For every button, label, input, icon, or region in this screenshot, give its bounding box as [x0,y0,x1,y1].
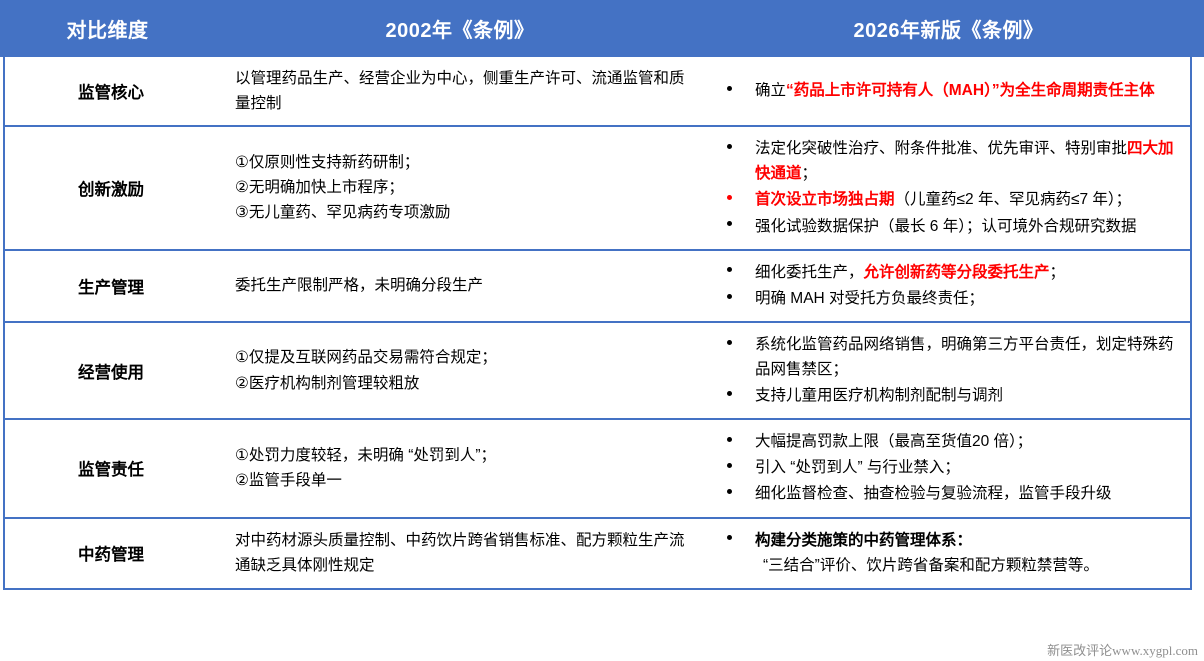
old-regulation-line: 对中药材源头质量控制、中药饮片跨省销售标准、配方颗粒生产流通缺乏具体刚性规定 [235,528,693,578]
bullet-item: 细化委托生产，允许创新药等分段委托生产； [721,260,1176,285]
dimension-label: 监管核心 [78,79,144,103]
body-text: 法定化突破性治疗、附条件批准、优先审评、特别审批 [755,140,1127,157]
body-text: 细化委托生产， [755,264,864,281]
bullet-item: 首次设立市场独占期（儿童药≤2 年、罕见病药≤7 年）； [721,187,1176,212]
bullet-item: 构建分类施策的中药管理体系：“三结合”评价、饮片跨省备案和配方颗粒禁营等。 [721,528,1176,578]
cell-old-regulation: 委托生产限制严格，未明确分段生产 [217,251,707,321]
body-text: 确立 [755,82,786,99]
bullet-item: 法定化突破性治疗、附条件批准、优先审评、特别审批四大加快通道； [721,136,1176,186]
body-text: 系统化监管药品网络销售，明确第三方平台责任，划定特殊药品网售禁区； [755,336,1174,378]
cell-dimension: 创新激励 [5,127,217,248]
cell-new-regulation: 系统化监管药品网络销售，明确第三方平台责任，划定特殊药品网售禁区；支持儿童用医疗… [707,323,1190,418]
bullet-dot-icon [727,267,732,272]
cell-old-regulation: ①仅提及互联网药品交易需符合规定；②医疗机构制剂管理较粗放 [217,323,707,418]
cell-new-regulation: 大幅提高罚款上限（最高至货值20 倍）；引入 “处罚到人” 与行业禁入；细化监督… [707,420,1190,516]
cell-dimension: 中药管理 [5,519,217,588]
bold-text: 构建分类施策的中药管理体系： [755,532,972,549]
table-row: 经营使用①仅提及互联网药品交易需符合规定；②医疗机构制剂管理较粗放系统化监管药品… [5,323,1190,420]
bullet-list: 法定化突破性治疗、附条件批准、优先审评、特别审批四大加快通道；首次设立市场独占期… [721,136,1176,239]
old-regulation-line: ①处罚力度较轻，未明确 “处罚到人”； [235,443,693,468]
comparison-table-sheet: 对比维度 2002年《条例》 2026年新版《条例》 监管核心以管理药品生产、经… [0,0,1204,661]
body-text: 明确 MAH 对受托方负最终责任； [755,290,984,307]
bullet-dot-icon [727,340,732,345]
table-row: 监管责任①处罚力度较轻，未明确 “处罚到人”；②监管手段单一大幅提高罚款上限（最… [5,420,1190,518]
cell-dimension: 经营使用 [5,323,217,418]
bullet-list: 大幅提高罚款上限（最高至货值20 倍）；引入 “处罚到人” 与行业禁入；细化监督… [721,429,1176,507]
cell-new-regulation: 细化委托生产，允许创新药等分段委托生产；明确 MAH 对受托方负最终责任； [707,251,1190,321]
bullet-item: 系统化监管药品网络销售，明确第三方平台责任，划定特殊药品网售禁区； [721,332,1176,382]
body-text: 支持儿童用医疗机构制剂配制与调剂 [755,387,1003,404]
header-cell-old-regulation: 2002年《条例》 [215,0,705,57]
table-row: 创新激励①仅原则性支持新药研制；②无明确加快上市程序；③无儿童药、罕见病药专项激… [5,127,1190,250]
bullet-item: 大幅提高罚款上限（最高至货值20 倍）； [721,429,1176,454]
table-header-band: 对比维度 2002年《条例》 2026年新版《条例》 [0,0,1204,57]
bullet-dot-icon [727,489,732,494]
bullet-list: 细化委托生产，允许创新药等分段委托生产；明确 MAH 对受托方负最终责任； [721,260,1176,312]
bullet-dot-icon [727,144,732,149]
highlight-text: 允许创新药等分段委托生产 [864,264,1050,281]
cell-new-regulation: 构建分类施策的中药管理体系：“三结合”评价、饮片跨省备案和配方颗粒禁营等。 [707,519,1190,588]
bullet-item: 明确 MAH 对受托方负最终责任； [721,286,1176,311]
cell-old-regulation: 对中药材源头质量控制、中药饮片跨省销售标准、配方颗粒生产流通缺乏具体刚性规定 [217,519,707,588]
highlight-text: 首次设立市场独占期 [755,191,895,208]
old-regulation-line: ②医疗机构制剂管理较粗放 [235,371,693,396]
old-regulation-line: 委托生产限制严格，未明确分段生产 [235,273,693,298]
bullet-dot-icon [727,391,732,396]
dimension-label: 经营使用 [78,359,144,383]
bullet-list: 系统化监管药品网络销售，明确第三方平台责任，划定特殊药品网售禁区；支持儿童用医疗… [721,332,1176,409]
dimension-label: 监管责任 [78,456,144,480]
bullet-dot-icon [727,437,732,442]
bullet-item: 支持儿童用医疗机构制剂配制与调剂 [721,383,1176,408]
header-cell-new-regulation: 2026年新版《条例》 [705,0,1192,57]
bullet-list: 确立“药品上市许可持有人（MAH）”为全生命周期责任主体 [721,78,1176,104]
old-regulation-line: ②无明确加快上市程序； [235,175,693,200]
body-text: ； [802,165,818,182]
table-row: 生产管理委托生产限制严格，未明确分段生产细化委托生产，允许创新药等分段委托生产；… [5,251,1190,323]
cell-dimension: 监管责任 [5,420,217,516]
body-text: 大幅提高罚款上限（最高至货值20 倍）； [755,433,1032,450]
dimension-label: 创新激励 [78,176,144,200]
body-text: 细化监督检查、抽查检验与复验流程，监管手段升级 [755,485,1112,502]
cell-new-regulation: 法定化突破性治疗、附条件批准、优先审评、特别审批四大加快通道；首次设立市场独占期… [707,127,1190,248]
bullet-subline: “三结合”评价、饮片跨省备案和配方颗粒禁营等。 [755,553,1176,578]
header-cell-dimension: 对比维度 [0,0,215,57]
cell-dimension: 生产管理 [5,251,217,321]
bullet-item: 确立“药品上市许可持有人（MAH）”为全生命周期责任主体 [721,78,1176,103]
old-regulation-line: ①仅提及互联网药品交易需符合规定； [235,345,693,370]
old-regulation-line: ①仅原则性支持新药研制； [235,150,693,175]
old-regulation-line: 以管理药品生产、经营企业为中心，侧重生产许可、流通监管和质量控制 [235,66,693,116]
body-text: 引入 “处罚到人” 与行业禁入； [755,459,960,476]
dimension-label: 中药管理 [78,541,144,565]
cell-old-regulation: 以管理药品生产、经营企业为中心，侧重生产许可、流通监管和质量控制 [217,57,707,125]
table-row: 中药管理对中药材源头质量控制、中药饮片跨省销售标准、配方颗粒生产流通缺乏具体刚性… [5,519,1190,588]
cell-new-regulation: 确立“药品上市许可持有人（MAH）”为全生命周期责任主体 [707,57,1190,125]
cell-old-regulation: ①处罚力度较轻，未明确 “处罚到人”；②监管手段单一 [217,420,707,516]
bullet-item: 细化监督检查、抽查检验与复验流程，监管手段升级 [721,481,1176,506]
body-text: （儿童药≤2 年、罕见病药≤7 年）； [895,191,1132,208]
bullet-item: 引入 “处罚到人” 与行业禁入； [721,455,1176,480]
cell-old-regulation: ①仅原则性支持新药研制；②无明确加快上市程序；③无儿童药、罕见病药专项激励 [217,127,707,248]
body-text: ； [1050,264,1066,281]
old-regulation-line: ③无儿童药、罕见病药专项激励 [235,200,693,225]
body-text: 强化试验数据保护（最长 6 年）；认可境外合规研究数据 [755,218,1137,235]
old-regulation-line: ②监管手段单一 [235,468,693,493]
bullet-item: 强化试验数据保护（最长 6 年）；认可境外合规研究数据 [721,214,1176,239]
bullet-dot-icon [727,86,732,91]
bullet-dot-icon [727,535,732,540]
bullet-dot-icon [727,463,732,468]
table-body: 监管核心以管理药品生产、经营企业为中心，侧重生产许可、流通监管和质量控制确立“药… [3,57,1192,590]
table-row: 监管核心以管理药品生产、经营企业为中心，侧重生产许可、流通监管和质量控制确立“药… [5,57,1190,127]
bullet-list: 构建分类施策的中药管理体系：“三结合”评价、饮片跨省备案和配方颗粒禁营等。 [721,528,1176,579]
bullet-dot-icon [727,221,732,226]
highlight-text: “药品上市许可持有人（MAH）”为全生命周期责任主体 [786,82,1155,99]
bullet-dot-icon [727,195,732,200]
watermark-text: 新医改评论www.xygpl.com [1047,640,1198,659]
bullet-dot-icon [727,294,732,299]
cell-dimension: 监管核心 [5,57,217,125]
dimension-label: 生产管理 [78,274,144,298]
